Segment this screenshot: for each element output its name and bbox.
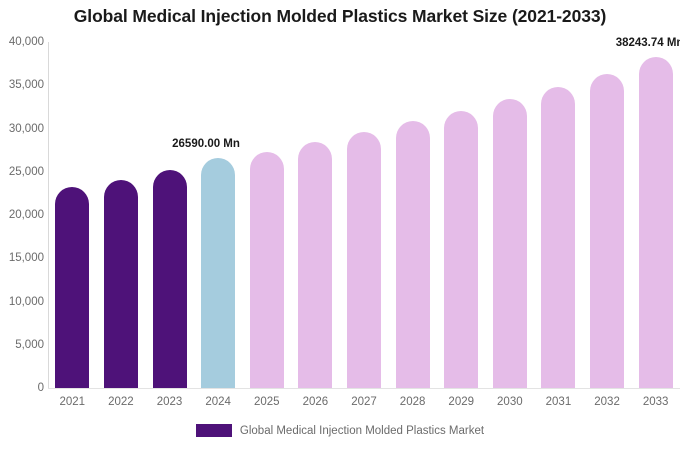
bar-chart: Global Medical Injection Molded Plastics…: [0, 0, 680, 450]
bar[interactable]: [104, 180, 138, 388]
chart-title: Global Medical Injection Molded Plastics…: [0, 6, 680, 27]
y-axis-tick: 20,000: [0, 209, 44, 221]
y-axis-tick: 35,000: [0, 79, 44, 91]
bar[interactable]: [493, 99, 527, 388]
y-axis-tick: 40,000: [0, 36, 44, 48]
bar[interactable]: [444, 111, 478, 388]
y-axis-tick: 15,000: [0, 252, 44, 264]
bar[interactable]: [298, 142, 332, 388]
plot-area: [48, 42, 680, 388]
bar[interactable]: [250, 152, 284, 388]
x-axis-tick: 2022: [97, 396, 146, 408]
x-axis-tick: 2030: [486, 396, 535, 408]
bar[interactable]: [347, 132, 381, 388]
x-axis-tick: 2033: [631, 396, 680, 408]
y-axis-tick: 0: [0, 382, 44, 394]
bar-value-label: 26590.00 Mn: [172, 138, 240, 150]
bar[interactable]: [153, 170, 187, 388]
x-axis-tick: 2027: [340, 396, 389, 408]
bar[interactable]: [396, 121, 430, 388]
x-axis-tick: 2029: [437, 396, 486, 408]
bar[interactable]: [541, 87, 575, 388]
x-axis-tick: 2023: [145, 396, 194, 408]
bar[interactable]: [201, 158, 235, 388]
legend-swatch: [196, 424, 232, 437]
x-axis-tick: 2024: [194, 396, 243, 408]
chart-legend: Global Medical Injection Molded Plastics…: [0, 424, 680, 437]
x-axis-tick: 2025: [242, 396, 291, 408]
x-axis-tick: 2031: [534, 396, 583, 408]
bar-value-label: 38243.74 Mn: [616, 37, 680, 49]
x-axis-line: [48, 388, 680, 389]
bar[interactable]: [55, 187, 89, 388]
x-axis-tick: 2032: [583, 396, 632, 408]
bar[interactable]: [590, 74, 624, 388]
y-axis-tick: 25,000: [0, 166, 44, 178]
bar[interactable]: [639, 57, 673, 388]
x-axis-tick: 2028: [388, 396, 437, 408]
y-axis-tick: 5,000: [0, 339, 44, 351]
legend-label: Global Medical Injection Molded Plastics…: [240, 425, 484, 437]
x-axis-tick: 2021: [48, 396, 97, 408]
y-axis-tick-labels: 40,00035,00030,00025,00020,00015,00010,0…: [0, 42, 44, 388]
x-axis-tick: 2026: [291, 396, 340, 408]
y-axis-tick: 10,000: [0, 296, 44, 308]
y-axis-tick: 30,000: [0, 123, 44, 135]
